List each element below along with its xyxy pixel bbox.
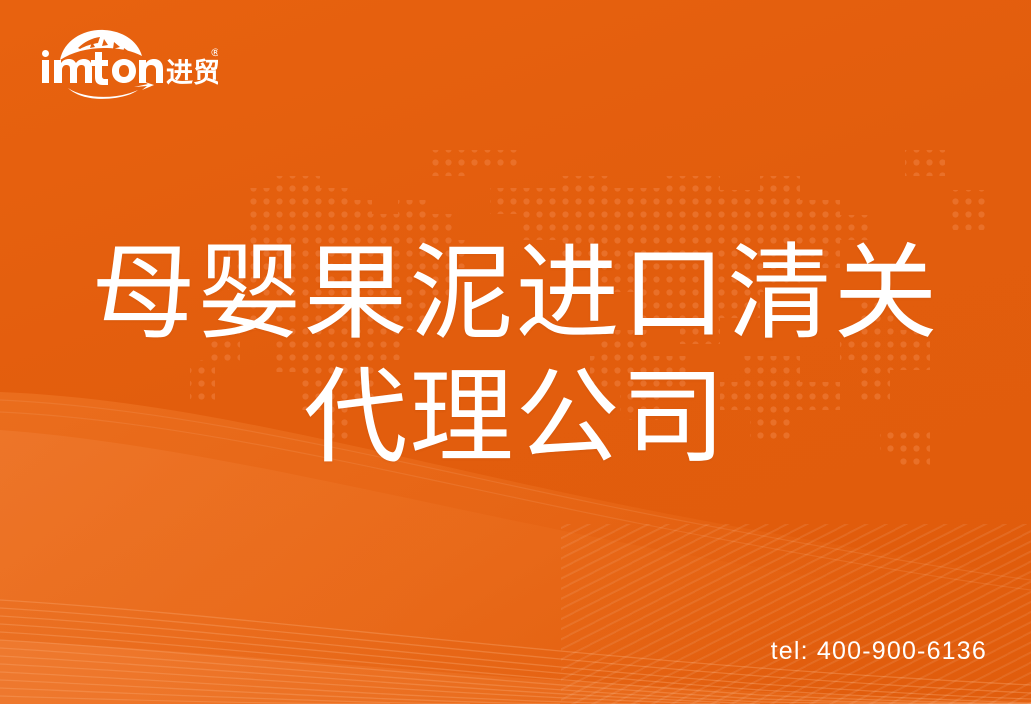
page-title: 母婴果泥进口清关 代理公司 bbox=[0, 232, 1031, 480]
trademark-symbol: ® bbox=[210, 46, 218, 59]
brand-logo[interactable]: 进贸通 ® bbox=[38, 26, 218, 100]
contact-telephone[interactable]: tel: 400-900-6136 bbox=[771, 637, 987, 666]
logo-wordmark-imton bbox=[42, 50, 163, 85]
logo-wordmark-chinese: 进贸通 ® bbox=[166, 46, 218, 89]
swoosh-arrow-icon bbox=[68, 81, 154, 99]
logo-chinese-text: 进贸通 bbox=[166, 58, 218, 89]
banner-canvas: 进贸通 ® 母婴果泥进口清关 代理公司 tel: 400-900-6136 bbox=[0, 0, 1031, 704]
title-line-1: 母婴果泥进口清关 bbox=[0, 232, 1031, 356]
title-line-2: 代理公司 bbox=[0, 356, 1031, 480]
